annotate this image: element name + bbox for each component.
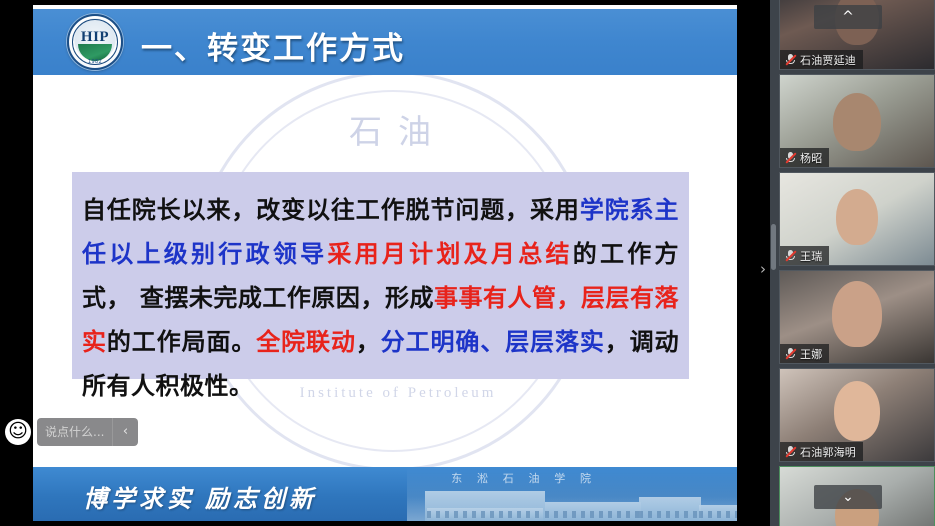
participant-tile[interactable]: 石油郭海明 [779,368,935,462]
chat-bar: ☺ ‹ [0,416,138,447]
smiley-icon[interactable]: ☺ [5,419,31,445]
body-text-red-3: 全院联动 [256,328,356,356]
slide-body-textbox: 自任院长以来，改变以往工作脱节问题，采用学院系主任以上级别行政领导采用月计划及月… [72,172,689,379]
participant-name: 王瑞 [800,248,822,264]
chevron-down-icon[interactable]: ⌄ [814,485,882,509]
participant-name-badge: 王瑞 [780,246,829,265]
building-name-text: 东 淞 石 油 学 院 [451,470,597,486]
mic-muted-icon [785,249,796,262]
chevron-up-icon[interactable]: ^ [814,5,882,29]
participant-tiles-container: 石油贾延迪 杨昭 [779,0,935,526]
meeting-window: 石油 Institute of Petroleum HIP 1982 一、转变工… [0,0,935,526]
presentation-slide: 石油 Institute of Petroleum HIP 1982 一、转变工… [33,5,737,521]
slide-footer-motto: 博学求实 励志创新 [83,479,317,514]
participant-name-badge: 杨昭 [780,148,829,167]
participant-panel-scrollbar[interactable] [771,224,776,270]
slide-watermark-text: 石油 [283,105,513,153]
mic-muted-icon [785,53,796,66]
participant-tile[interactable]: 王瑞 [779,172,935,266]
chevron-left-icon[interactable]: ‹ [112,418,138,446]
participant-name-badge: 王娜 [780,344,829,363]
body-text-red-1: 采用月计划及月总结 [327,240,572,268]
campus-building-image: 东 淞 石 油 学 院 [407,467,737,521]
participant-name: 杨昭 [800,150,822,166]
mic-muted-icon [785,347,796,360]
participant-name: 石油贾延迪 [800,52,856,68]
slide-footer-bar: 博学求实 励志创新 东 淞 石 油 学 院 [33,467,737,521]
chat-input[interactable] [37,418,112,446]
body-text-blue-2: 分工明确、层层落实 [381,328,605,356]
chevron-right-icon[interactable]: › [756,258,770,280]
participant-name: 石油郭海明 [800,444,856,460]
participant-name: 王娜 [800,346,822,362]
body-text-sep-1: ， [356,328,381,356]
slide-title: 一、转变工作方式 [141,23,405,68]
slide-body-paragraph: 自任院长以来，改变以往工作脱节问题，采用学院系主任以上级别行政领导采用月计划及月… [82,188,679,408]
seal-year: 1982 [69,59,121,65]
mic-muted-icon [785,445,796,458]
participant-tile[interactable]: 王娜 [779,270,935,364]
body-text-plain-4: 的工作局面。 [107,328,256,356]
body-text-plain-1: 自任院长以来，改变以往工作脱节问题，采用 [82,196,580,224]
shared-screen-stage: 石油 Institute of Petroleum HIP 1982 一、转变工… [0,0,770,526]
participant-name-badge: 石油郭海明 [780,442,863,461]
university-seal-icon: HIP 1982 [67,14,123,70]
chat-input-pill[interactable]: ‹ [37,418,138,446]
participant-tile[interactable]: 杨昭 [779,74,935,168]
participant-video-strip: ^ 石油贾延迪 [770,0,935,526]
slide-title-bar: HIP 1982 一、转变工作方式 [33,9,737,75]
participant-name-badge: 石油贾延迪 [780,50,863,69]
body-text-plain-3: 查摆未完成工作原因，形成 [140,284,434,312]
mic-muted-icon [785,151,796,164]
